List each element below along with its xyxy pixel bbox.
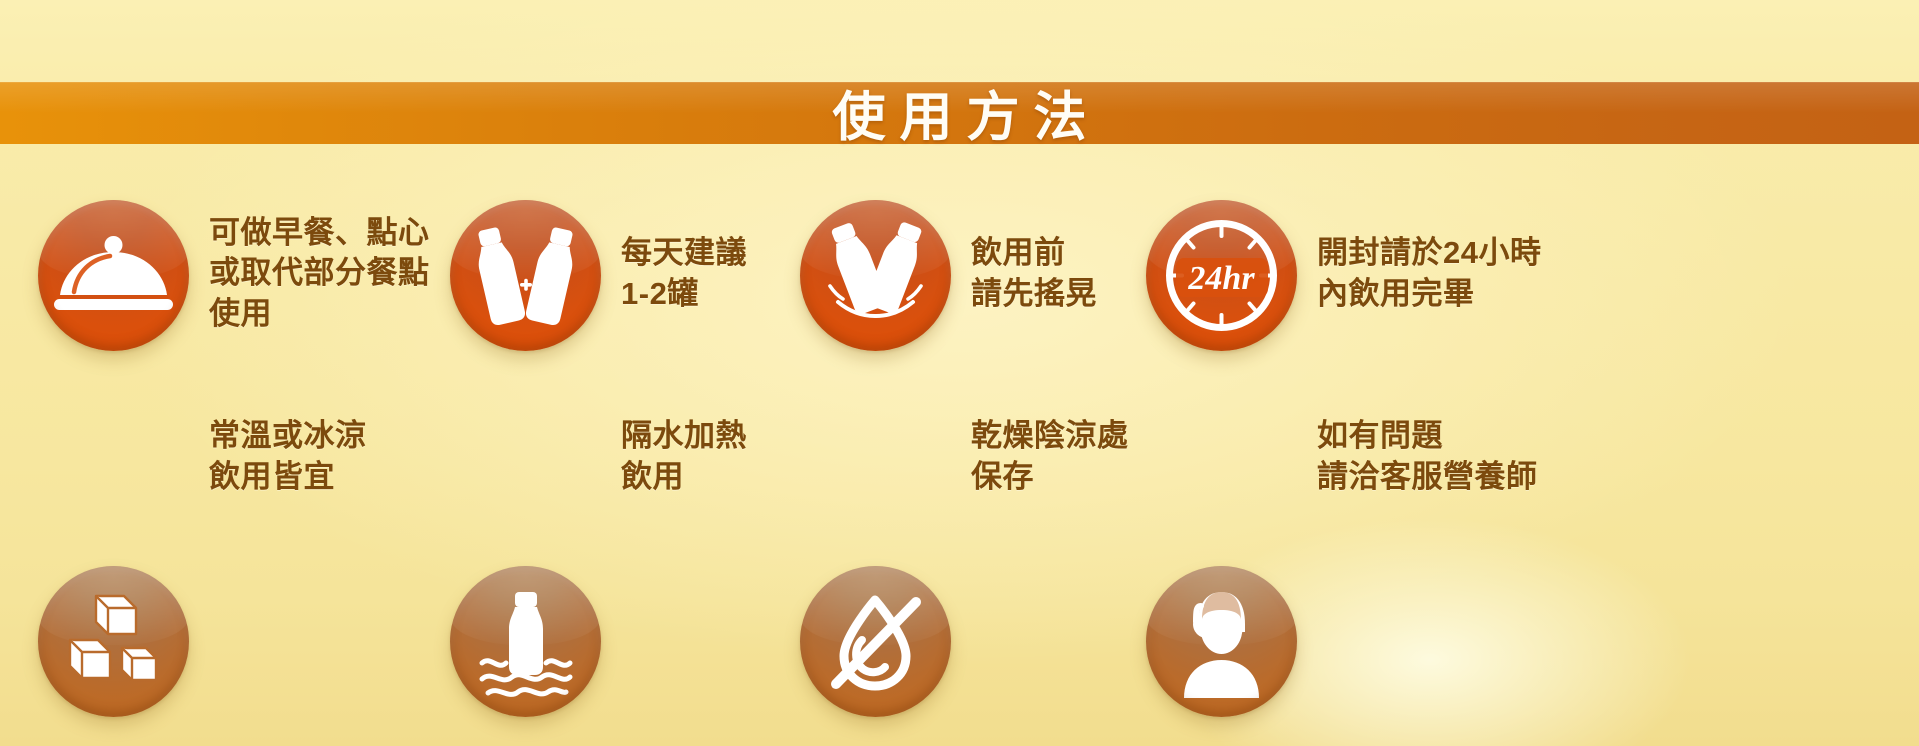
usage-item-6: 隔水加熱 飲用 [450,381,747,532]
shake-bottle-icon [800,200,951,351]
usage-instructions-banner: 使用方法 可做早餐、點心 或取代部分餐點 使用 [0,0,1919,746]
page-title: 使用方法 [0,72,1919,154]
usage-item-8: 如有問題 請洽客服營養師 [1146,381,1538,532]
24hr-clock-icon: 24hr [1146,200,1297,351]
no-humidity-drop-icon [800,566,951,717]
24hr-label: 24hr [1187,260,1255,297]
usage-item-6-text: 隔水加熱 飲用 [621,416,747,497]
usage-items-grid: 可做早餐、點心 或取代部分餐點 使用 [0,196,1919,576]
usage-item-3-text: 飲用前 請先搖晃 [971,233,1097,314]
usage-item-2: 每天建議 1-2罐 [450,198,747,349]
usage-item-7-text: 乾燥陰涼處 保存 [971,416,1129,497]
usage-item-4-text: 開封請於24小時 內飲用完畢 [1317,233,1541,314]
usage-item-2-text: 每天建議 1-2罐 [621,233,747,314]
usage-item-1: 可做早餐、點心 或取代部分餐點 使用 [38,198,430,349]
usage-item-7: 乾燥陰涼處 保存 [800,381,1129,532]
customer-service-nutritionist-icon [1146,566,1297,717]
cloche-food-cover-icon [38,200,189,351]
usage-item-5-text: 常溫或冰涼 飲用皆宜 [209,416,367,497]
usage-item-4: 24hr 開封請於24小時 內飲用完畢 [1146,198,1541,349]
usage-item-8-text: 如有問題 請洽客服營養師 [1317,416,1538,497]
usage-item-1-text: 可做早餐、點心 或取代部分餐點 使用 [209,213,430,334]
two-bottles-plus-icon [450,200,601,351]
usage-item-3: 飲用前 請先搖晃 [800,198,1097,349]
bottle-in-water-icon [450,566,601,717]
ice-cubes-icon [38,566,189,717]
usage-item-5: 常溫或冰涼 飲用皆宜 [38,381,367,532]
